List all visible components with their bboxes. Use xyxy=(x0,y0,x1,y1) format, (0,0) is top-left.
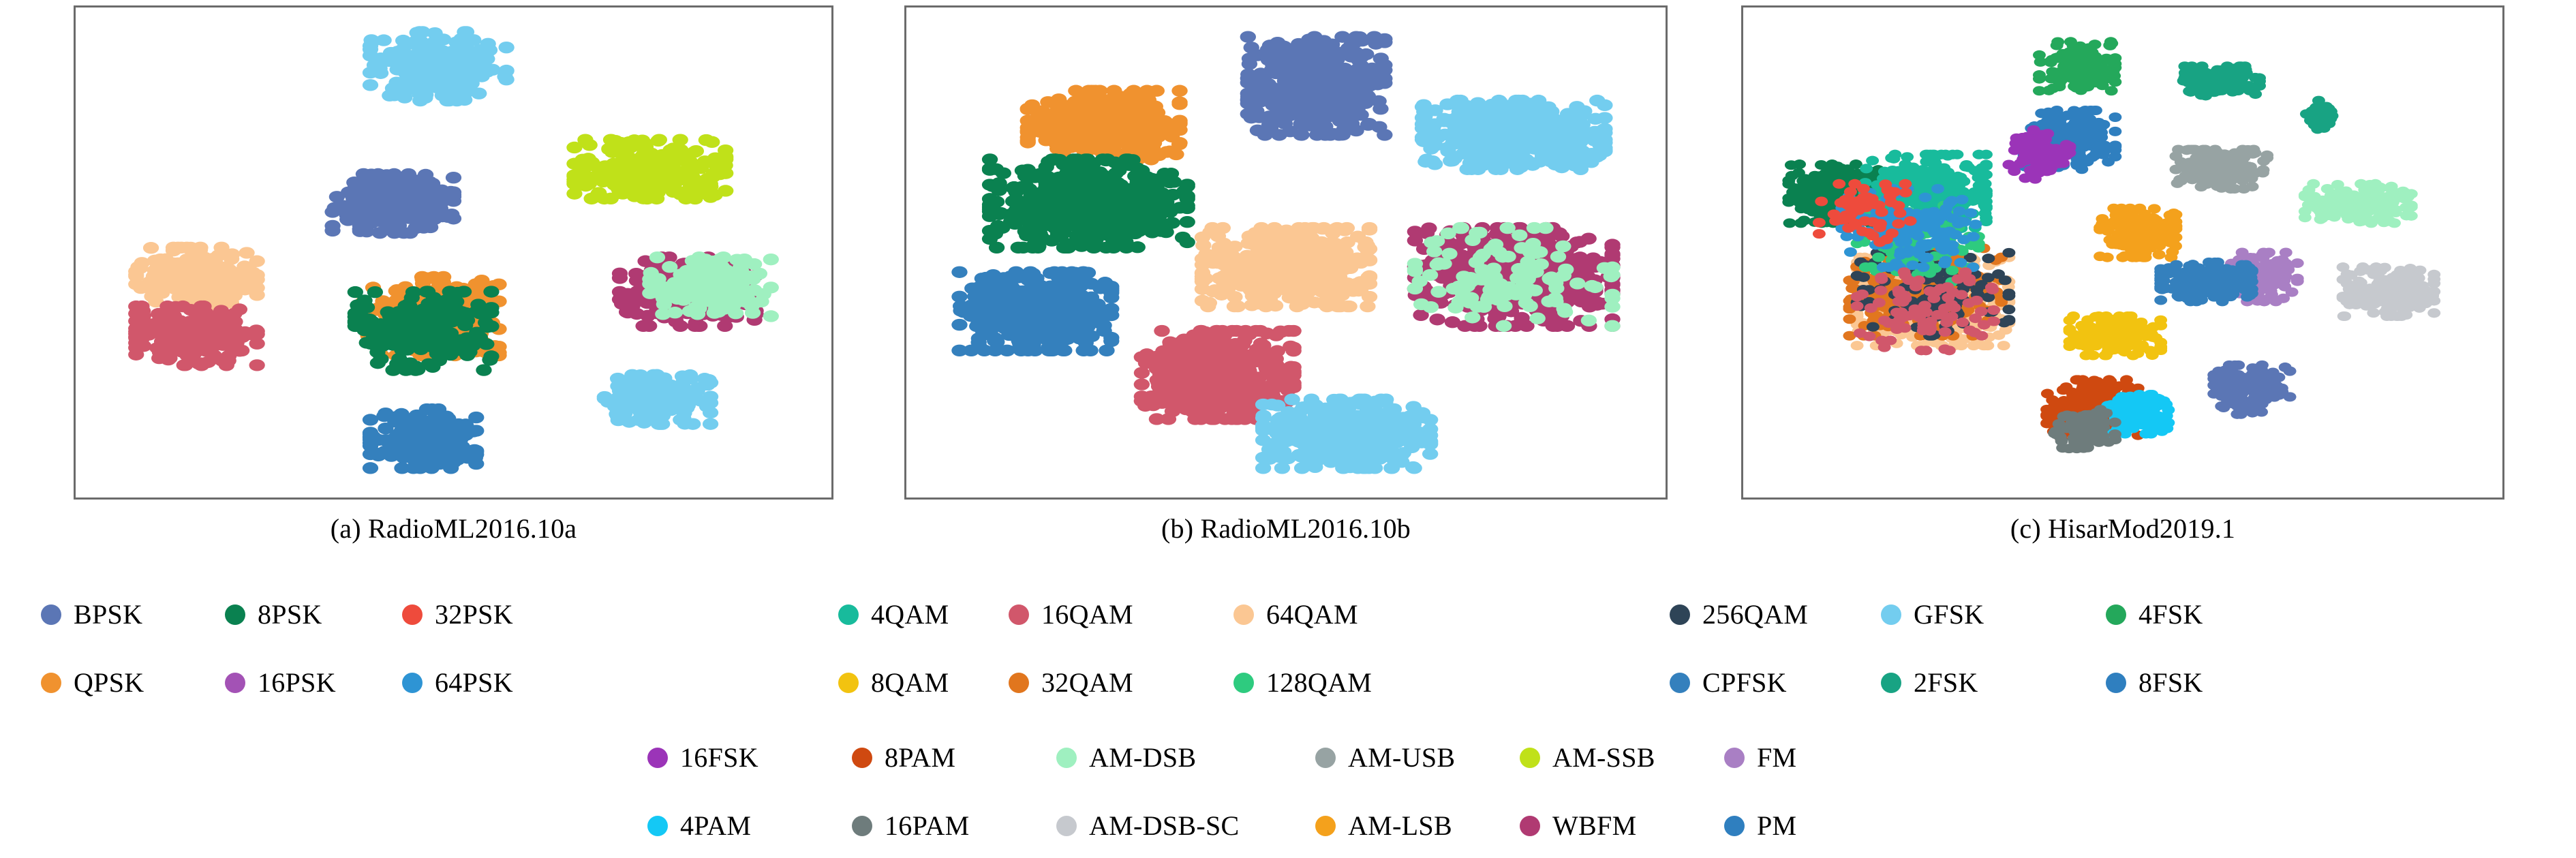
legend-marker-icon xyxy=(1520,748,1540,768)
legend-item-fm[interactable]: FM xyxy=(1724,743,1929,773)
legend-marker-icon xyxy=(402,604,423,625)
legend-item-cpfsk[interactable]: CPFSK xyxy=(1670,656,1787,709)
legend-item-am-dsb-sc[interactable]: AM-DSB-SC xyxy=(1056,811,1315,841)
cluster-am-dsb xyxy=(2299,179,2418,228)
panel-b-frame xyxy=(904,5,1668,500)
legend-item-256qam[interactable]: 256QAM xyxy=(1670,588,1808,641)
legend-item-4fsk[interactable]: 4FSK xyxy=(2106,588,2203,641)
legend-marker-icon xyxy=(1233,604,1254,625)
legend-marker-icon xyxy=(41,673,61,693)
legend-item-bpsk[interactable]: BPSK xyxy=(41,588,142,641)
panel-b-caption: (b) RadioML2016.10b xyxy=(904,512,1668,545)
legend-marker-icon xyxy=(1881,673,1901,693)
legend-marker-icon xyxy=(1056,816,1077,836)
legend-marker-icon xyxy=(1233,673,1254,693)
legend-label: 128QAM xyxy=(1266,668,1372,698)
legend-item-wbfm[interactable]: WBFM xyxy=(1520,811,1724,841)
legend-item-8psk[interactable]: 8PSK xyxy=(225,588,322,641)
legend-marker-icon xyxy=(838,673,859,693)
legend-marker-icon xyxy=(1315,748,1336,768)
legend-label: QPSK xyxy=(74,668,144,698)
legend-marker-icon xyxy=(647,748,668,768)
legend-item-8qam[interactable]: 8QAM xyxy=(838,656,949,709)
tsne-figure: (a) RadioML2016.10a (b) RadioML2016.10b … xyxy=(0,0,2576,858)
legend-item-am-ssb[interactable]: AM-SSB xyxy=(1520,743,1724,773)
legend-item-32psk[interactable]: 32PSK xyxy=(402,588,513,641)
legend-label: 256QAM xyxy=(1702,600,1808,630)
panel-a-frame xyxy=(74,5,833,500)
cluster-am-lsb xyxy=(2094,204,2182,262)
legend-label: AM-LSB xyxy=(1348,811,1452,841)
legend-marker-icon xyxy=(41,604,61,625)
legend-label: 16PAM xyxy=(885,811,970,841)
legend-label: 8PAM xyxy=(885,743,955,773)
legend-label: GFSK xyxy=(1914,600,1984,630)
legend-marker-icon xyxy=(225,604,245,625)
legend-label: AM-DSB xyxy=(1089,743,1196,773)
cluster-pm xyxy=(2207,361,2296,419)
legend-marker-icon xyxy=(1520,816,1540,836)
legend-item-128qam[interactable]: 128QAM xyxy=(1233,656,1372,709)
cluster-cpfsk xyxy=(363,403,485,474)
legend-marker-icon xyxy=(402,673,423,693)
legend-label: 32PSK xyxy=(435,600,513,630)
legend-label: 2FSK xyxy=(1914,668,1978,698)
legend-item-pm[interactable]: PM xyxy=(1724,811,1929,841)
legend-item-16pam[interactable]: 16PAM xyxy=(852,811,1056,841)
cluster-2fsk xyxy=(2300,96,2338,134)
legend-label: PM xyxy=(1757,811,1796,841)
legend-marker-icon xyxy=(852,748,872,768)
cluster-8psk xyxy=(982,153,1195,254)
legend-label: 8PSK xyxy=(258,600,322,630)
scatter-plot-b xyxy=(906,7,1666,497)
cluster-bpsk xyxy=(1240,31,1393,140)
legend-label: 4FSK xyxy=(2138,600,2203,630)
cluster-gfsk xyxy=(363,26,515,106)
scatter-panels xyxy=(0,0,2576,508)
legend-label: FM xyxy=(1757,743,1796,773)
cluster-cpfsk xyxy=(2154,258,2258,307)
legend-label: 64QAM xyxy=(1266,600,1358,630)
legend-label: AM-DSB-SC xyxy=(1089,811,1240,841)
legend-marker-icon xyxy=(2106,673,2126,693)
legend-marker-icon xyxy=(1315,816,1336,836)
legend-item-16fsk[interactable]: 16FSK xyxy=(647,743,852,773)
legend-item-8fsk[interactable]: 8FSK xyxy=(2106,656,2203,709)
legend-label: WBFM xyxy=(1552,811,1636,841)
legend-label: 64PSK xyxy=(435,668,513,698)
legend-marker-icon xyxy=(1009,673,1029,693)
cluster-64qam xyxy=(1195,222,1377,312)
legend-item-am-dsb[interactable]: AM-DSB xyxy=(1056,743,1315,773)
scatter-plot-a xyxy=(76,7,831,497)
legend-item-64psk[interactable]: 64PSK xyxy=(402,656,513,709)
cluster-qpsk xyxy=(1020,85,1188,166)
legend-marker-icon xyxy=(1881,604,1901,625)
legend-label: BPSK xyxy=(74,600,142,630)
legend-item-4pam[interactable]: 4PAM xyxy=(647,811,852,841)
legend-label: 8FSK xyxy=(2138,668,2203,698)
legend-label: AM-USB xyxy=(1348,743,1455,773)
cluster-bpsk xyxy=(324,168,461,239)
panel-a-caption: (a) RadioML2016.10a xyxy=(74,512,833,545)
legend-marker-icon xyxy=(1670,673,1690,693)
legend-item-4qam[interactable]: 4QAM xyxy=(838,588,949,641)
panel-c-frame xyxy=(1741,5,2504,500)
legend-label: 16QAM xyxy=(1041,600,1133,630)
legend-row-4: 4PAM16PAMAM-DSB-SCAM-LSBWBFMPM xyxy=(0,799,2576,853)
legend-row-3: 16FSK8PAMAM-DSBAM-USBAM-SSBFM xyxy=(0,731,2576,784)
legend-marker-icon xyxy=(1724,748,1745,768)
legend-marker-icon xyxy=(1009,604,1029,625)
cluster-4fsk xyxy=(2033,37,2121,95)
legend-item-2fsk[interactable]: 2FSK xyxy=(1881,656,1978,709)
legend-item-16qam[interactable]: 16QAM xyxy=(1009,588,1133,641)
panel-radioml2016-10a xyxy=(74,5,833,500)
legend-label: 4QAM xyxy=(871,600,949,630)
legend-label: CPFSK xyxy=(1702,668,1787,698)
cluster-8qam xyxy=(2064,311,2168,361)
legend-item-64qam[interactable]: 64QAM xyxy=(1233,588,1358,641)
cluster-am-usb xyxy=(2170,144,2274,194)
legend-label: AM-SSB xyxy=(1552,743,1655,773)
legend-label: 4PAM xyxy=(680,811,751,841)
legend-label: 16PSK xyxy=(258,668,336,698)
legend-marker-icon xyxy=(225,673,245,693)
legend-row-1: BPSK8PSK32PSK4QAM16QAM64QAM256QAMGFSK4FS… xyxy=(0,588,2576,641)
panel-c-caption: (c) HisarMod2019.1 xyxy=(1741,512,2504,545)
cluster-16qam xyxy=(128,301,265,371)
legend-label: 16FSK xyxy=(680,743,758,773)
scatter-plot-c xyxy=(1743,7,2502,497)
cluster-4pam xyxy=(597,369,719,430)
legend-marker-icon xyxy=(852,816,872,836)
legend-item-16psk[interactable]: 16PSK xyxy=(225,656,336,709)
cluster-4pam xyxy=(1255,394,1438,474)
legend-marker-icon xyxy=(838,604,859,625)
legend-item-am-usb[interactable]: AM-USB xyxy=(1315,743,1520,773)
legend-label: 8QAM xyxy=(871,668,949,698)
legend-marker-icon xyxy=(1056,748,1077,768)
cluster-gfsk xyxy=(1415,95,1613,175)
legend-marker-icon xyxy=(2106,604,2126,625)
class-legend: BPSK8PSK32PSK4QAM16QAM64QAM256QAMGFSK4FS… xyxy=(0,576,2576,858)
panel-hisarmod2019-1 xyxy=(1741,5,2504,500)
legend-marker-icon xyxy=(647,816,668,836)
legend-item-8pam[interactable]: 8PAM xyxy=(852,743,1056,773)
cluster-cpfsk xyxy=(951,266,1119,356)
legend-marker-icon xyxy=(1724,816,1745,836)
legend-item-32qam[interactable]: 32QAM xyxy=(1009,656,1133,709)
cluster-am-dsb-sc xyxy=(2337,262,2441,321)
legend-row-2: QPSK16PSK64PSK8QAM32QAM128QAMCPFSK2FSK8F… xyxy=(0,656,2576,709)
legend-label: 32QAM xyxy=(1041,668,1133,698)
legend-marker-icon xyxy=(1670,604,1690,625)
legend-item-am-lsb[interactable]: AM-LSB xyxy=(1315,811,1520,841)
legend-item-gfsk[interactable]: GFSK xyxy=(1881,588,1984,641)
legend-item-qpsk[interactable]: QPSK xyxy=(41,656,144,709)
cluster-am-ssb xyxy=(566,134,733,204)
panel-radioml2016-10b xyxy=(904,5,1668,500)
cluster-2fsk xyxy=(2177,61,2266,100)
